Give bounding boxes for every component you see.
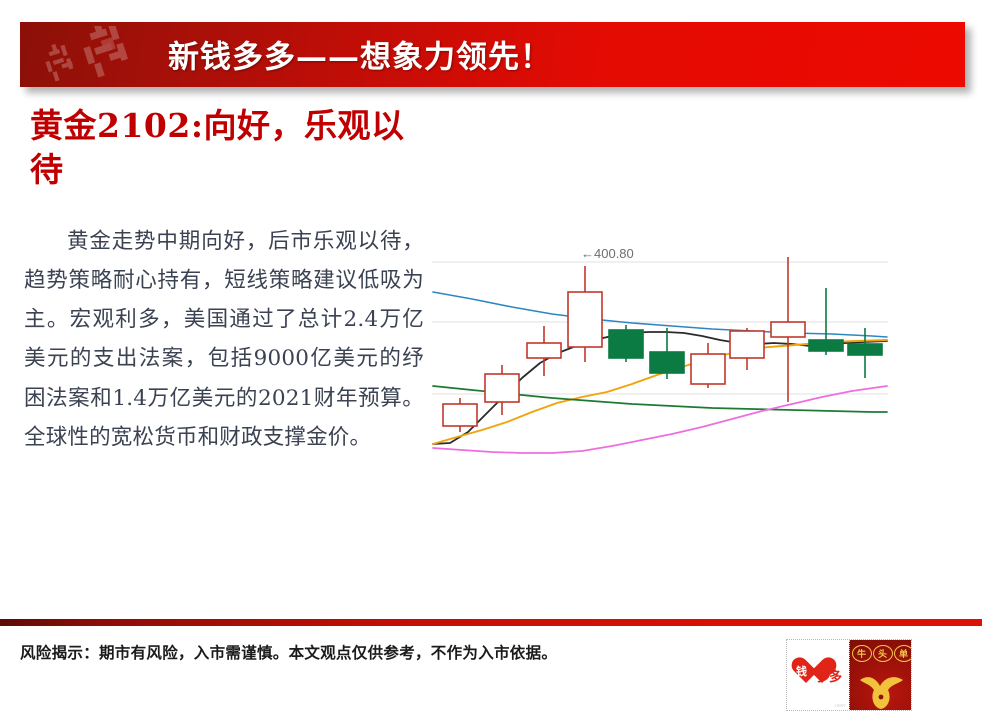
candle-8 <box>771 257 805 402</box>
series-ma-blue <box>433 292 887 337</box>
chart-price-annotation: ←400.80 <box>581 246 634 261</box>
golden-bull-icon <box>858 668 906 710</box>
candlestick-chart: ←400.80 <box>432 236 888 464</box>
brand-niutoudan: 牛头单 <box>849 640 912 710</box>
body-paragraph: 黄金走势中期向好，后市乐观以待，趋势策略耐心持有，短线策略建议低吸为主。宏观利多… <box>24 222 424 457</box>
candle-5 <box>650 328 684 379</box>
diamond-knot-watermark-icon <box>38 26 154 84</box>
header-banner: 新钱多多——想象力领先！ <box>20 22 965 87</box>
page-title: 黄金2102:向好，乐观以待 <box>30 104 420 191</box>
brand-qianduoduo: 钱 多多 LIMIT <box>787 640 849 710</box>
candle-7 <box>730 328 764 370</box>
footer-disclaimer: 风险揭示：期市有风险，入市需谨慎。本文观点仅供参考，不作为入市依据。 <box>20 641 557 663</box>
price-annotation-label: ←400.80 <box>581 246 634 261</box>
candle-1 <box>485 365 519 415</box>
brand-circle-char-2: 单 <box>894 645 912 662</box>
candle-6 <box>691 343 725 388</box>
candle-3 <box>568 266 602 362</box>
chart-svg: ←400.80 <box>432 236 888 464</box>
brand-text-duoduo: 多多 <box>817 666 841 685</box>
brand-circle-char-0: 牛 <box>852 645 872 662</box>
candle-4 <box>609 325 643 362</box>
header-title: 新钱多多——想象力领先！ <box>168 31 552 76</box>
footer-brand-logo: 钱 多多 LIMIT 牛头单 <box>786 639 912 711</box>
footer-divider <box>0 619 982 626</box>
slide-canvas: 新钱多多——想象力领先！ 黄金2102:向好，乐观以待 黄金走势中期向好，后市乐… <box>0 0 982 720</box>
brand-circle-char-1: 头 <box>873 645 893 662</box>
brand-tiny-mark: LIMIT <box>834 703 845 708</box>
brand-char-circles: 牛头单 <box>852 645 912 662</box>
brand-char-qian: 钱 <box>796 663 807 679</box>
